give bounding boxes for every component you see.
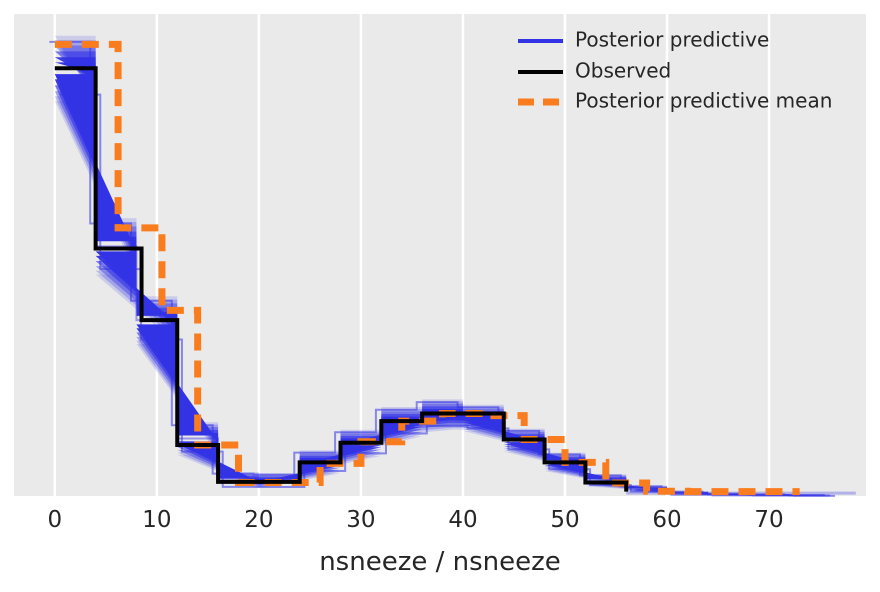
x-tick-label: 60 <box>652 507 681 533</box>
x-tick-label: 30 <box>346 507 375 533</box>
x-tick-label: 70 <box>754 507 783 533</box>
x-tick-label: 40 <box>448 507 477 533</box>
x-tick-label: 10 <box>142 507 171 533</box>
x-tick-label: 0 <box>47 507 62 533</box>
x-axis-title: nsneeze / nsneeze <box>319 547 561 577</box>
legend-label-posterior-predictive: Posterior predictive <box>575 28 769 52</box>
x-tick-label: 20 <box>244 507 273 533</box>
posterior-predictive-check-chart: 010203040506070 nsneeze / nsneeze Poster… <box>0 0 880 592</box>
legend-label-observed: Observed <box>575 59 671 83</box>
x-tick-label: 50 <box>550 507 579 533</box>
figure-canvas: 010203040506070 nsneeze / nsneeze Poster… <box>0 0 880 592</box>
legend-label-posterior-predictive-mean: Posterior predictive mean <box>575 89 832 113</box>
